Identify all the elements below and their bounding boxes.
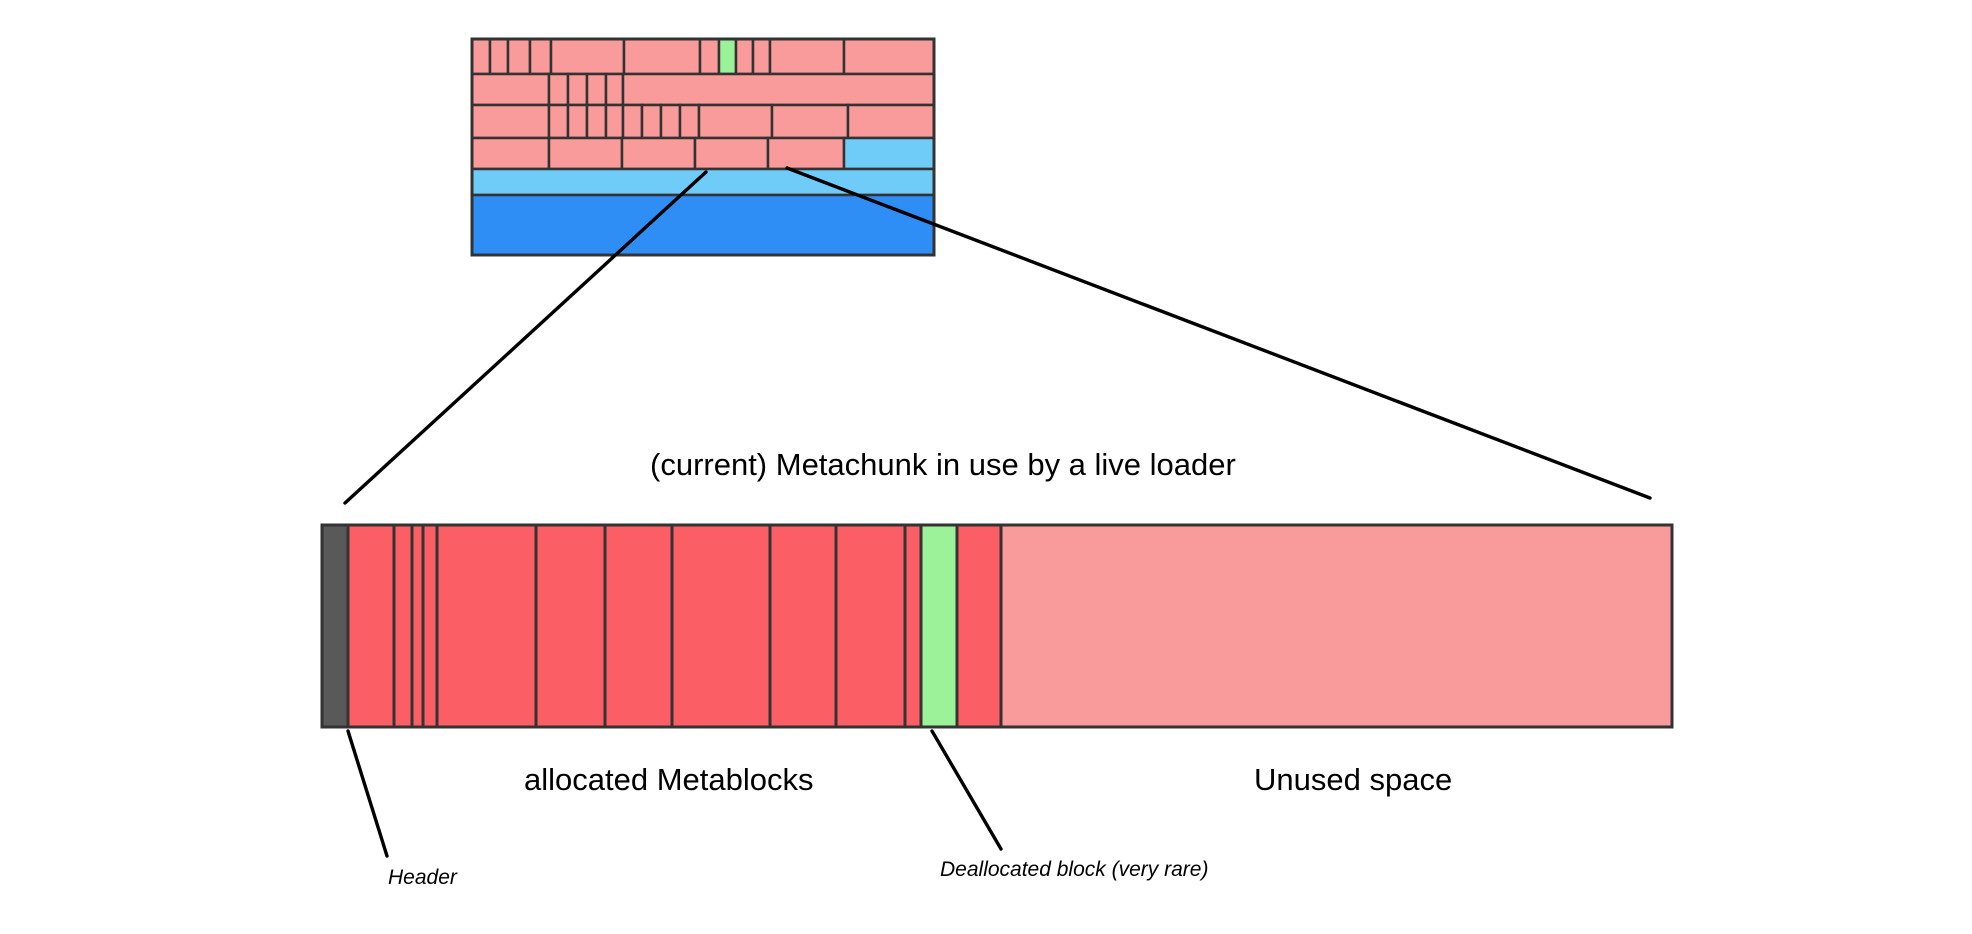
detail-segment-allocated: [905, 525, 921, 727]
header-leader: [348, 731, 387, 856]
overview-cell-pink: [844, 39, 934, 74]
deallocated-block-label: Deallocated block (very rare): [940, 858, 1208, 882]
overview-cell-pink: [848, 105, 934, 138]
overview-cell-pink: [587, 105, 606, 138]
diagram-canvas: (current) Metachunk in use by a live loa…: [0, 0, 1972, 934]
detail-segment-allocated: [536, 525, 605, 727]
overview-cell-pink: [622, 138, 695, 169]
overview-cell-pink: [770, 39, 844, 74]
overview-cell-pink: [624, 39, 700, 74]
overview-cell-pink: [568, 74, 587, 105]
overview-cell-pink: [472, 138, 549, 169]
overview-cell-pink: [472, 74, 549, 105]
detail-segment-allocated: [394, 525, 412, 727]
detail-segment-allocated: [770, 525, 836, 727]
overview-cell-pink: [699, 105, 772, 138]
detail-segment-deallocated: [921, 525, 957, 727]
overview-cell-pink: [753, 39, 770, 74]
overview-cell-pink: [661, 105, 680, 138]
detail-segment-allocated: [423, 525, 437, 727]
page-title: (current) Metachunk in use by a live loa…: [650, 447, 1236, 483]
overview-cell-pink: [568, 105, 587, 138]
overview-cell-pink: [530, 39, 551, 74]
overview-cell-lightblue: [844, 138, 934, 169]
overview-cell-blue: [472, 195, 934, 255]
detail-segment-allocated: [412, 525, 423, 727]
overview-cell-pink: [736, 39, 753, 74]
detail-segment-allocated: [672, 525, 770, 727]
overview-cell-pink: [700, 39, 719, 74]
overview-cell-green: [719, 39, 736, 74]
overview-cell-pink: [623, 74, 934, 105]
allocated-metablocks-label: allocated Metablocks: [524, 762, 814, 798]
header-label: Header: [388, 866, 457, 890]
overview-cell-pink: [490, 39, 508, 74]
overview-cell-pink: [768, 138, 844, 169]
overview-cell-pink: [472, 105, 549, 138]
overview-cell-pink: [623, 105, 642, 138]
overview-cell-pink: [587, 74, 606, 105]
overview-cell-pink: [642, 105, 661, 138]
overview-cell-pink: [549, 74, 568, 105]
detail-segment-unused: [1001, 525, 1672, 727]
overview-cell-pink: [606, 74, 623, 105]
detail-segment-header: [322, 525, 348, 727]
detail-segment-allocated: [605, 525, 672, 727]
dealloc-leader: [932, 731, 1001, 849]
overview-cell-pink: [695, 138, 768, 169]
overview-cell-pink: [772, 105, 848, 138]
unused-space-label: Unused space: [1254, 762, 1452, 798]
connector-lines: [345, 168, 1650, 856]
overview-metachunk-graphic: [472, 39, 934, 255]
detail-segment-allocated: [836, 525, 905, 727]
overview-cell-pink: [508, 39, 530, 74]
detail-segment-allocated: [957, 525, 1001, 727]
overview-cell-pink: [549, 105, 568, 138]
overview-cell-pink: [549, 138, 622, 169]
detail-segment-allocated: [437, 525, 536, 727]
detail-segment-allocated: [348, 525, 394, 727]
overview-cell-pink: [472, 39, 490, 74]
overview-cell-pink: [606, 105, 623, 138]
overview-cell-pink: [551, 39, 624, 74]
overview-cell-pink: [680, 105, 699, 138]
detail-metachunk-bar: [322, 525, 1672, 727]
